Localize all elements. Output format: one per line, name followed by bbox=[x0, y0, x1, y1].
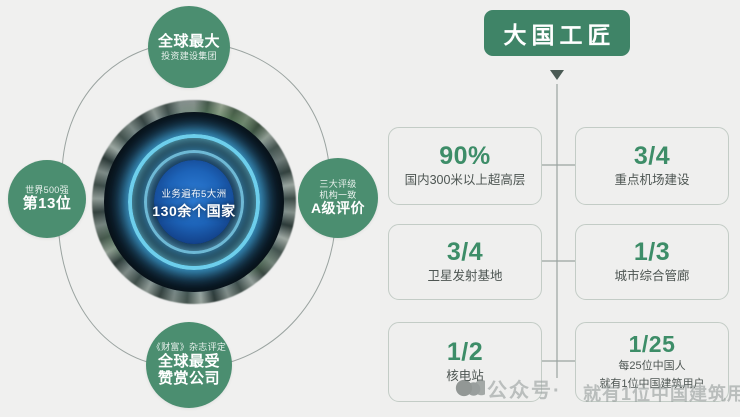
bubble-top-sub: 投资建设集团 bbox=[161, 51, 217, 62]
stat-card-label: 卫星发射基地 bbox=[427, 269, 502, 285]
right-panel: 大国工匠 90% 国内300米以上超高层 3/4 重点机场建设 3/4 卫星发射… bbox=[380, 0, 740, 417]
bubble-most-admired[interactable]: 《财富》杂志评定 全球最受 赞赏公司 bbox=[146, 322, 232, 408]
stat-card-label: 每25位中国人 bbox=[618, 360, 685, 374]
globe-caption-sub: 业务遍布5大洲 bbox=[92, 186, 296, 200]
stat-card-label-second: 就有1位中国建筑用户 bbox=[599, 378, 704, 392]
stat-card-label: 核电站 bbox=[446, 369, 484, 385]
bubble-left-sub: 世界500强 bbox=[25, 185, 69, 196]
bubble-left-main: 第13位 bbox=[23, 195, 72, 213]
stat-card[interactable]: 1/2 核电站 bbox=[388, 322, 542, 402]
bubble-top-main: 全球最大 bbox=[158, 33, 220, 51]
stat-card-number: 1/3 bbox=[634, 239, 670, 265]
infographic-root: 业务遍布5大洲 130余个国家 全球最大 投资建设集团 世界500强 第13位 … bbox=[0, 0, 740, 417]
bubble-right-main: A级评价 bbox=[311, 200, 365, 217]
stat-card[interactable]: 3/4 重点机场建设 bbox=[575, 127, 729, 205]
stat-card[interactable]: 90% 国内300米以上超高层 bbox=[388, 127, 542, 205]
globe-caption: 业务遍布5大洲 130余个国家 bbox=[92, 186, 296, 221]
bubble-bottom-sub: 《财富》杂志评定 bbox=[152, 342, 226, 353]
bubble-fortune-rank[interactable]: 世界500强 第13位 bbox=[8, 160, 86, 238]
bubble-right-sub-a: 三大评级 bbox=[319, 179, 356, 190]
stat-card-number: 90% bbox=[439, 143, 491, 169]
stat-card-number: 3/4 bbox=[447, 239, 483, 265]
left-panel: 业务遍布5大洲 130余个国家 全球最大 投资建设集团 世界500强 第13位 … bbox=[0, 0, 380, 417]
stat-card[interactable]: 1/3 城市综合管廊 bbox=[575, 224, 729, 300]
globe-graphic: 业务遍布5大洲 130余个国家 bbox=[92, 100, 296, 304]
bubble-bottom-main-b: 赞赏公司 bbox=[158, 370, 220, 388]
stat-card[interactable]: 1/25 每25位中国人 就有1位中国建筑用户 bbox=[575, 322, 729, 402]
stat-card-label: 国内300米以上超高层 bbox=[405, 173, 526, 189]
stat-card-label: 重点机场建设 bbox=[614, 173, 689, 189]
bubble-bottom-main-a: 全球最受 bbox=[158, 353, 220, 371]
stat-card-number: 1/25 bbox=[629, 332, 676, 356]
stat-card-number: 3/4 bbox=[634, 143, 670, 169]
stat-card[interactable]: 3/4 卫星发射基地 bbox=[388, 224, 542, 300]
bubble-credit-rating[interactable]: 三大评级 机构一致 A级评价 bbox=[298, 158, 378, 238]
bubble-right-sub-b: 机构一致 bbox=[319, 190, 356, 201]
globe-caption-main: 130余个国家 bbox=[92, 201, 296, 221]
stat-card-label: 城市综合管廊 bbox=[614, 269, 689, 285]
bubble-global-largest[interactable]: 全球最大 投资建设集团 bbox=[148, 6, 230, 88]
stat-card-number: 1/2 bbox=[447, 339, 483, 365]
